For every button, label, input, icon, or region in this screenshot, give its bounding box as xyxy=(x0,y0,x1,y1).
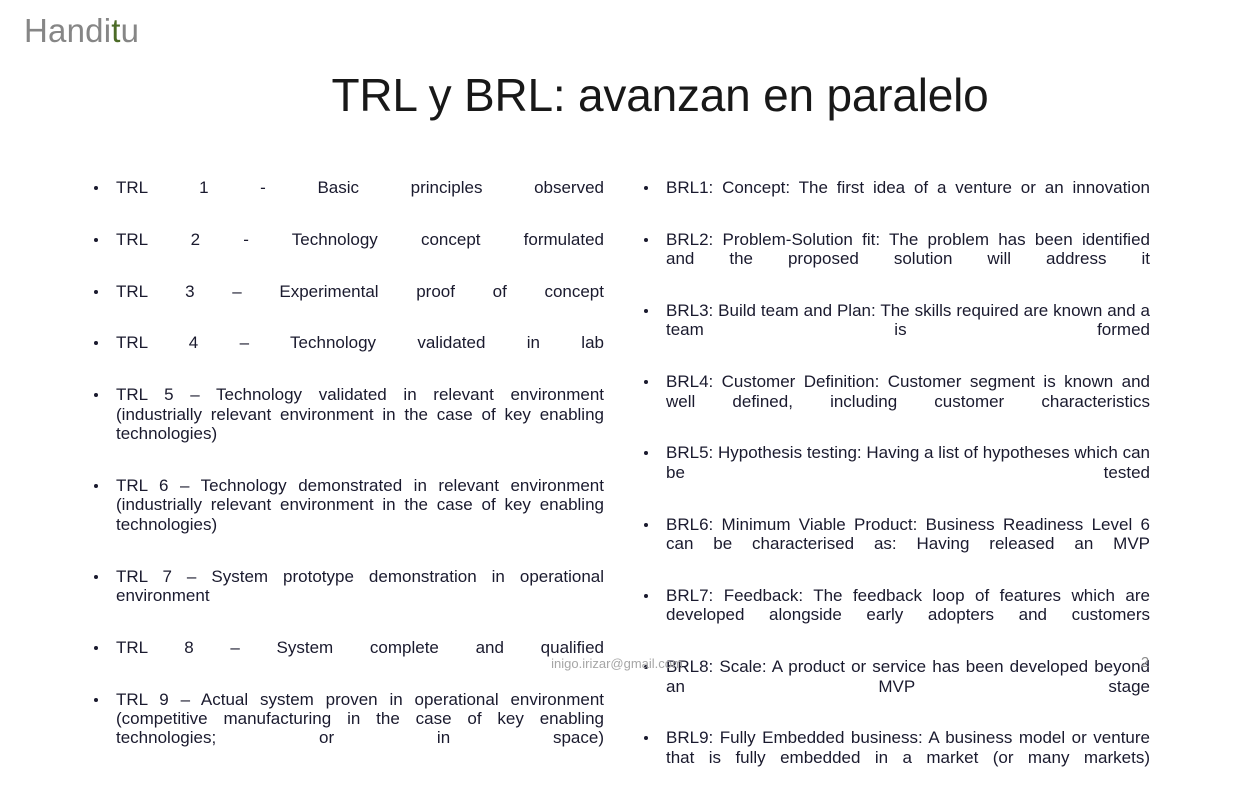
list-item-text: BRL2: Problem-Solution fit: The problem … xyxy=(666,230,1150,288)
list-item-text: TRL 9 – Actual system proven in operatio… xyxy=(116,690,604,768)
list-item: TRL 1 - Basic principles observed xyxy=(88,178,604,217)
bullet-icon xyxy=(644,451,648,455)
list-item-text: BRL7: Feedback: The feedback loop of fea… xyxy=(666,586,1150,644)
list-item: BRL4: Customer Definition: Customer segm… xyxy=(638,372,1150,430)
logo-text-accent: t xyxy=(111,12,120,49)
list-item: TRL 4 – Technology validated in lab xyxy=(88,333,604,372)
list-item-text: TRL 7 – System prototype demonstration i… xyxy=(116,567,604,625)
bullet-icon xyxy=(644,380,648,384)
list-item-text: TRL 5 – Technology validated in relevant… xyxy=(116,385,604,463)
bullet-icon xyxy=(644,594,648,598)
brand-logo: Handitu xyxy=(24,11,139,51)
bullet-icon xyxy=(94,341,98,345)
list-item-text: BRL1: Concept: The first idea of a ventu… xyxy=(666,178,1150,217)
brl-list: BRL1: Concept: The first idea of a ventu… xyxy=(638,178,1150,787)
slide: Handitu TRL y BRL: avanzan en paralelo T… xyxy=(0,0,1234,691)
right-column: BRL1: Concept: The first idea of a ventu… xyxy=(638,178,1150,787)
bullet-icon xyxy=(94,186,98,190)
bullet-icon xyxy=(644,186,648,190)
list-item-text: TRL 4 – Technology validated in lab xyxy=(116,333,604,372)
list-item: TRL 2 - Technology concept formulated xyxy=(88,230,604,269)
footer-email: inigo.irizar@gmail.com xyxy=(0,655,1234,673)
list-item-text: BRL6: Minimum Viable Product: Business R… xyxy=(666,515,1150,573)
trl-list: TRL 1 - Basic principles observed TRL 2 … xyxy=(88,178,604,767)
list-item-text: TRL 1 - Basic principles observed xyxy=(116,178,604,217)
bullet-icon xyxy=(94,646,98,650)
bullet-icon xyxy=(644,309,648,313)
logo-text-part1: Handi xyxy=(24,12,111,49)
list-item: BRL6: Minimum Viable Product: Business R… xyxy=(638,515,1150,573)
list-item-text: BRL9: Fully Embedded business: A busines… xyxy=(666,728,1150,786)
list-item: BRL5: Hypothesis testing: Having a list … xyxy=(638,443,1150,501)
list-item-text: BRL4: Customer Definition: Customer segm… xyxy=(666,372,1150,430)
list-item-text: BRL5: Hypothesis testing: Having a list … xyxy=(666,443,1150,501)
list-item-text: TRL 3 – Experimental proof of concept xyxy=(116,282,604,321)
slide-title: TRL y BRL: avanzan en paralelo xyxy=(160,66,1160,124)
list-item: BRL1: Concept: The first idea of a ventu… xyxy=(638,178,1150,217)
list-item-text: BRL3: Build team and Plan: The skills re… xyxy=(666,301,1150,359)
bullet-icon xyxy=(644,736,648,740)
list-item: BRL3: Build team and Plan: The skills re… xyxy=(638,301,1150,359)
list-item: BRL7: Feedback: The feedback loop of fea… xyxy=(638,586,1150,644)
list-item: BRL2: Problem-Solution fit: The problem … xyxy=(638,230,1150,288)
list-item: TRL 6 – Technology demonstrated in relev… xyxy=(88,476,604,554)
bullet-icon xyxy=(94,238,98,242)
list-item-text: TRL 2 - Technology concept formulated xyxy=(116,230,604,269)
list-item: BRL9: Fully Embedded business: A busines… xyxy=(638,728,1150,786)
list-item: TRL 7 – System prototype demonstration i… xyxy=(88,567,604,625)
list-item: TRL 5 – Technology validated in relevant… xyxy=(88,385,604,463)
bullet-icon xyxy=(94,393,98,397)
list-item: TRL 9 – Actual system proven in operatio… xyxy=(88,690,604,768)
list-item: TRL 3 – Experimental proof of concept xyxy=(88,282,604,321)
bullet-icon xyxy=(644,238,648,242)
bullet-icon xyxy=(94,575,98,579)
left-column: TRL 1 - Basic principles observed TRL 2 … xyxy=(88,178,604,767)
list-item-text: TRL 6 – Technology demonstrated in relev… xyxy=(116,476,604,554)
bullet-icon xyxy=(644,523,648,527)
bullet-icon xyxy=(94,290,98,294)
bullet-icon xyxy=(94,484,98,488)
logo-text-part2: u xyxy=(121,12,140,49)
page-number: 2 xyxy=(1100,653,1190,673)
bullet-icon xyxy=(94,698,98,702)
